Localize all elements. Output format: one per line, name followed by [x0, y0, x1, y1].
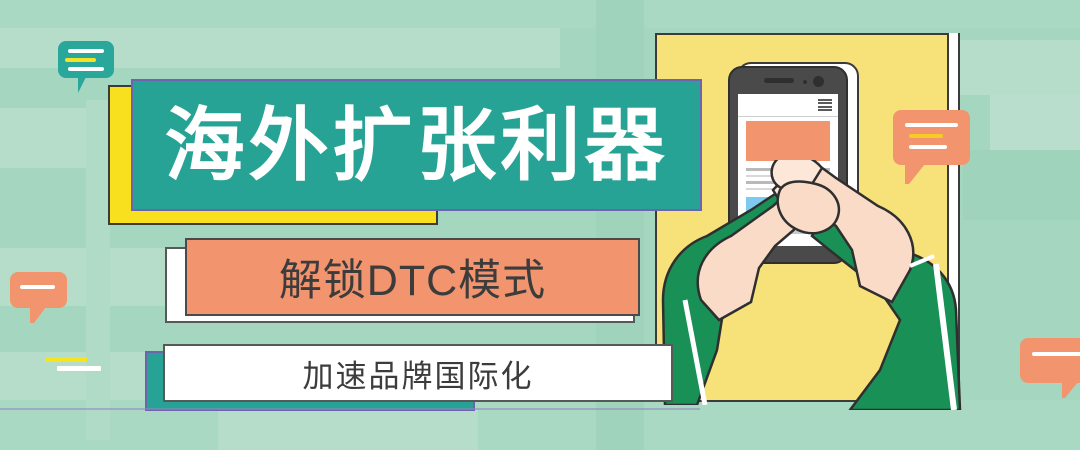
right-hand-illustration — [760, 160, 970, 410]
bubble-tail — [1062, 382, 1078, 398]
speech-bubble-orange-edge — [1020, 338, 1080, 383]
bubble-line — [65, 58, 96, 62]
phone-camera-icon — [813, 76, 824, 87]
subheadline-text: 解锁DTC模式 — [279, 246, 546, 308]
bubble-tail — [905, 164, 925, 184]
decoration-white-line — [57, 366, 101, 371]
headline-text: 海外扩张利器 — [165, 105, 669, 185]
headline-box: 海外扩张利器 — [131, 79, 702, 211]
bubble-line — [909, 145, 947, 149]
phone-speaker-icon — [764, 78, 794, 83]
background-band — [960, 40, 1080, 95]
bubble-tail — [78, 77, 95, 93]
promo-banner: 海外扩张利器 解锁DTC模式 加速品牌国际化 — [0, 0, 1080, 450]
bubble-line — [905, 123, 958, 127]
decoration-yellow-line — [45, 357, 87, 362]
speech-bubble-orange-right — [893, 110, 970, 165]
background-band — [0, 0, 1080, 28]
subheadline-box: 解锁DTC模式 — [185, 238, 640, 316]
background-band — [218, 410, 478, 450]
phone-sensor-icon — [803, 80, 807, 84]
bubble-line — [68, 49, 104, 53]
screen-header-bar — [738, 94, 838, 117]
bubble-tail — [30, 307, 46, 323]
tagline-text: 加速品牌国际化 — [303, 351, 534, 396]
background-band — [86, 100, 110, 440]
hamburger-menu-icon — [818, 99, 832, 111]
decoration-rule — [0, 408, 700, 410]
bubble-line — [68, 67, 104, 71]
tagline-box: 加速品牌国际化 — [163, 344, 673, 402]
speech-bubble-orange-left — [10, 272, 67, 308]
background-band — [963, 150, 1080, 220]
background-band — [990, 95, 1080, 155]
speech-bubble-teal-top — [58, 41, 114, 78]
bubble-line — [20, 285, 55, 289]
bubble-line — [1032, 352, 1080, 356]
bubble-line — [909, 134, 943, 138]
